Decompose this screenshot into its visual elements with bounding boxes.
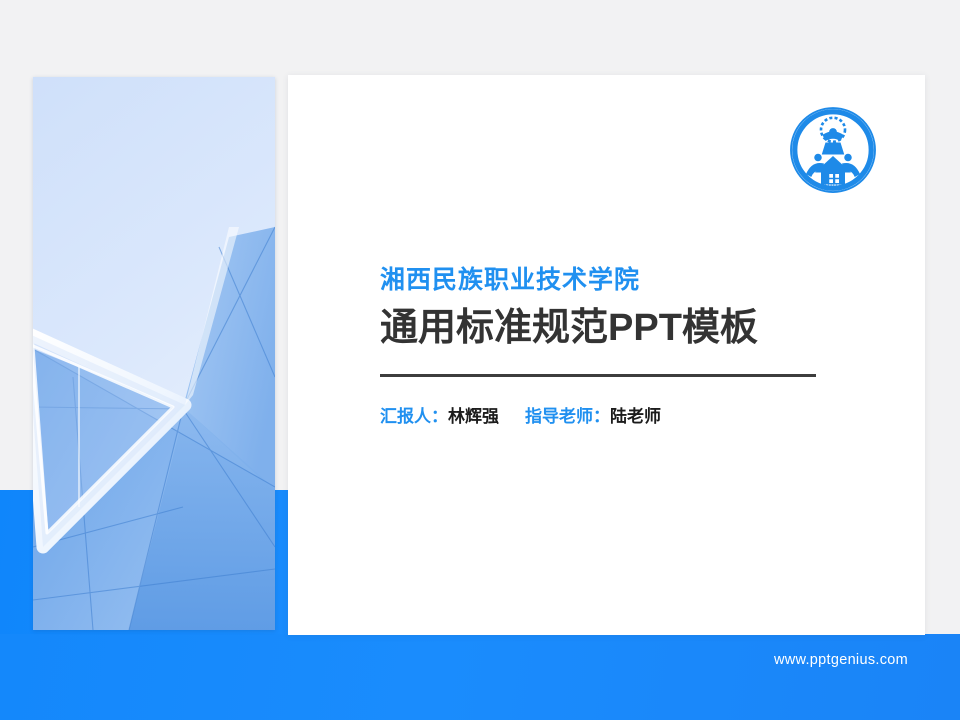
emblem-year: 2004 — [823, 182, 844, 190]
school-name: 湘西民族职业技术学院 — [380, 265, 840, 296]
byline: 汇报人：林辉强指导老师：陆老师 — [380, 405, 840, 429]
cover-photo — [33, 77, 275, 630]
college-logo: 湘西民族职业技术学院 — [788, 105, 878, 195]
advisor-label: 指导老师： — [525, 407, 610, 426]
presenter-label: 汇报人： — [380, 407, 448, 426]
college-emblem-icon: 湘西民族职业技术学院 — [788, 105, 878, 195]
title-slide: 湘西民族职业技术学院 — [0, 0, 960, 720]
title-block: 湘西民族职业技术学院 通用标准规范PPT模板 汇报人：林辉强指导老师：陆老师 — [380, 265, 840, 429]
content-card: 湘西民族职业技术学院 — [288, 75, 925, 635]
footer-blue-band — [0, 634, 960, 720]
footer-url: www.pptgenius.com — [0, 652, 908, 668]
presenter-name: 林辉强 — [448, 407, 499, 426]
architecture-photo-graphic — [33, 77, 275, 630]
advisor-name: 陆老师 — [610, 407, 661, 426]
page-title: 通用标准规范PPT模板 — [380, 306, 840, 352]
title-divider — [380, 374, 816, 377]
